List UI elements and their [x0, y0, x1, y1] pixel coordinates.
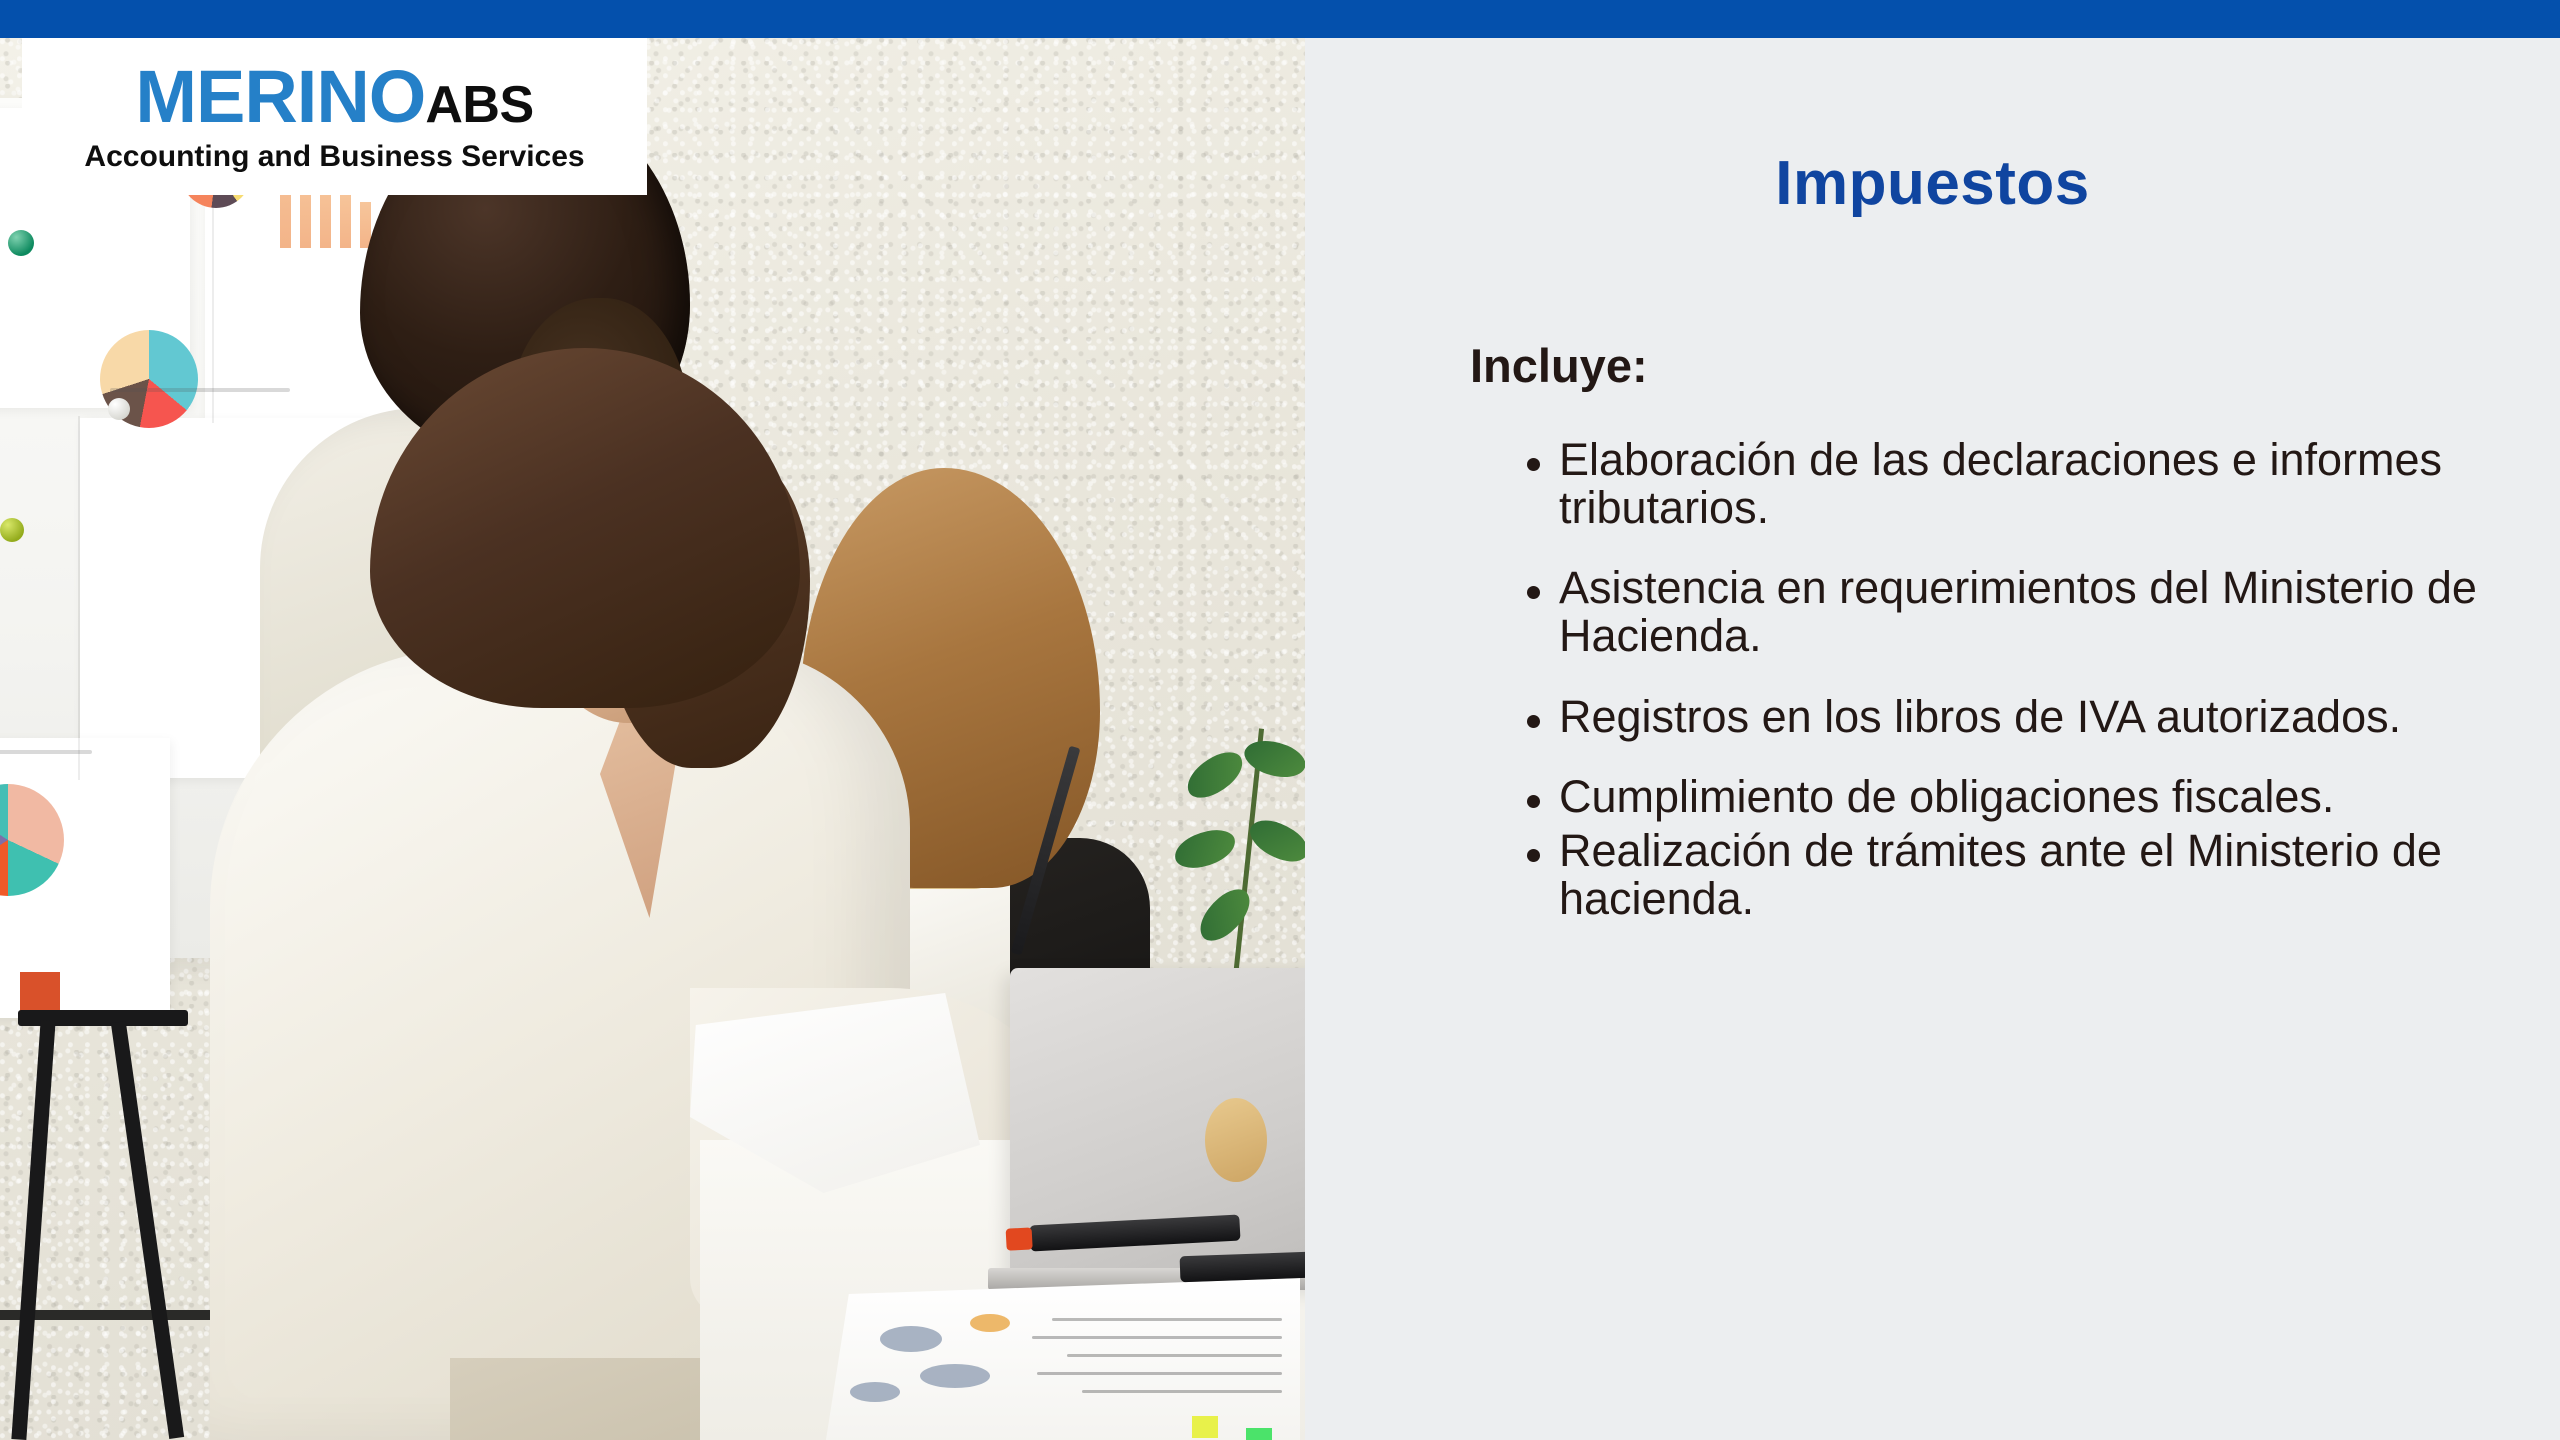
list-item: Asistencia en requerimientos del Ministe… [1501, 564, 2551, 660]
company-logo[interactable]: MERINO ABS Accounting and Business Servi… [22, 38, 647, 195]
sheet-seam [78, 416, 80, 780]
chart-caption [0, 750, 92, 754]
magnet-icon [8, 230, 34, 256]
content-panel: Impuestos Incluye: Elaboración de las de… [1305, 38, 2560, 1440]
logo-secondary-text: ABS [425, 79, 533, 131]
sticky-note [1192, 1416, 1218, 1438]
logo-tagline: Accounting and Business Services [84, 140, 584, 174]
top-accent-bar [0, 0, 2560, 38]
list-item: Realización de trámites ante el Minister… [1501, 827, 2551, 923]
sticky-note [1246, 1428, 1272, 1440]
hero-photo: MERINO ABS Accounting and Business Servi… [0, 38, 1305, 1440]
magnet-icon [108, 398, 130, 420]
marker-pen [1180, 1252, 1305, 1283]
includes-list: Elaboración de las declaraciones e infor… [1501, 436, 2551, 929]
magnet-icon [0, 518, 24, 542]
plant-icon [1190, 728, 1305, 1008]
paper-stack [820, 1278, 1300, 1440]
slide-root: MERINO ABS Accounting and Business Servi… [0, 0, 2560, 1440]
list-item: Cumplimiento de obligaciones fiscales. [1501, 773, 2551, 821]
logo-primary-text: MERINO [135, 60, 425, 134]
includes-heading: Incluye: [1470, 338, 1648, 393]
list-item: Registros en los libros de IVA autorizad… [1501, 693, 2551, 741]
page-title: Impuestos [1305, 148, 2560, 219]
list-item: Elaboración de las declaraciones e infor… [1501, 436, 2551, 532]
chair [0, 1010, 220, 1440]
